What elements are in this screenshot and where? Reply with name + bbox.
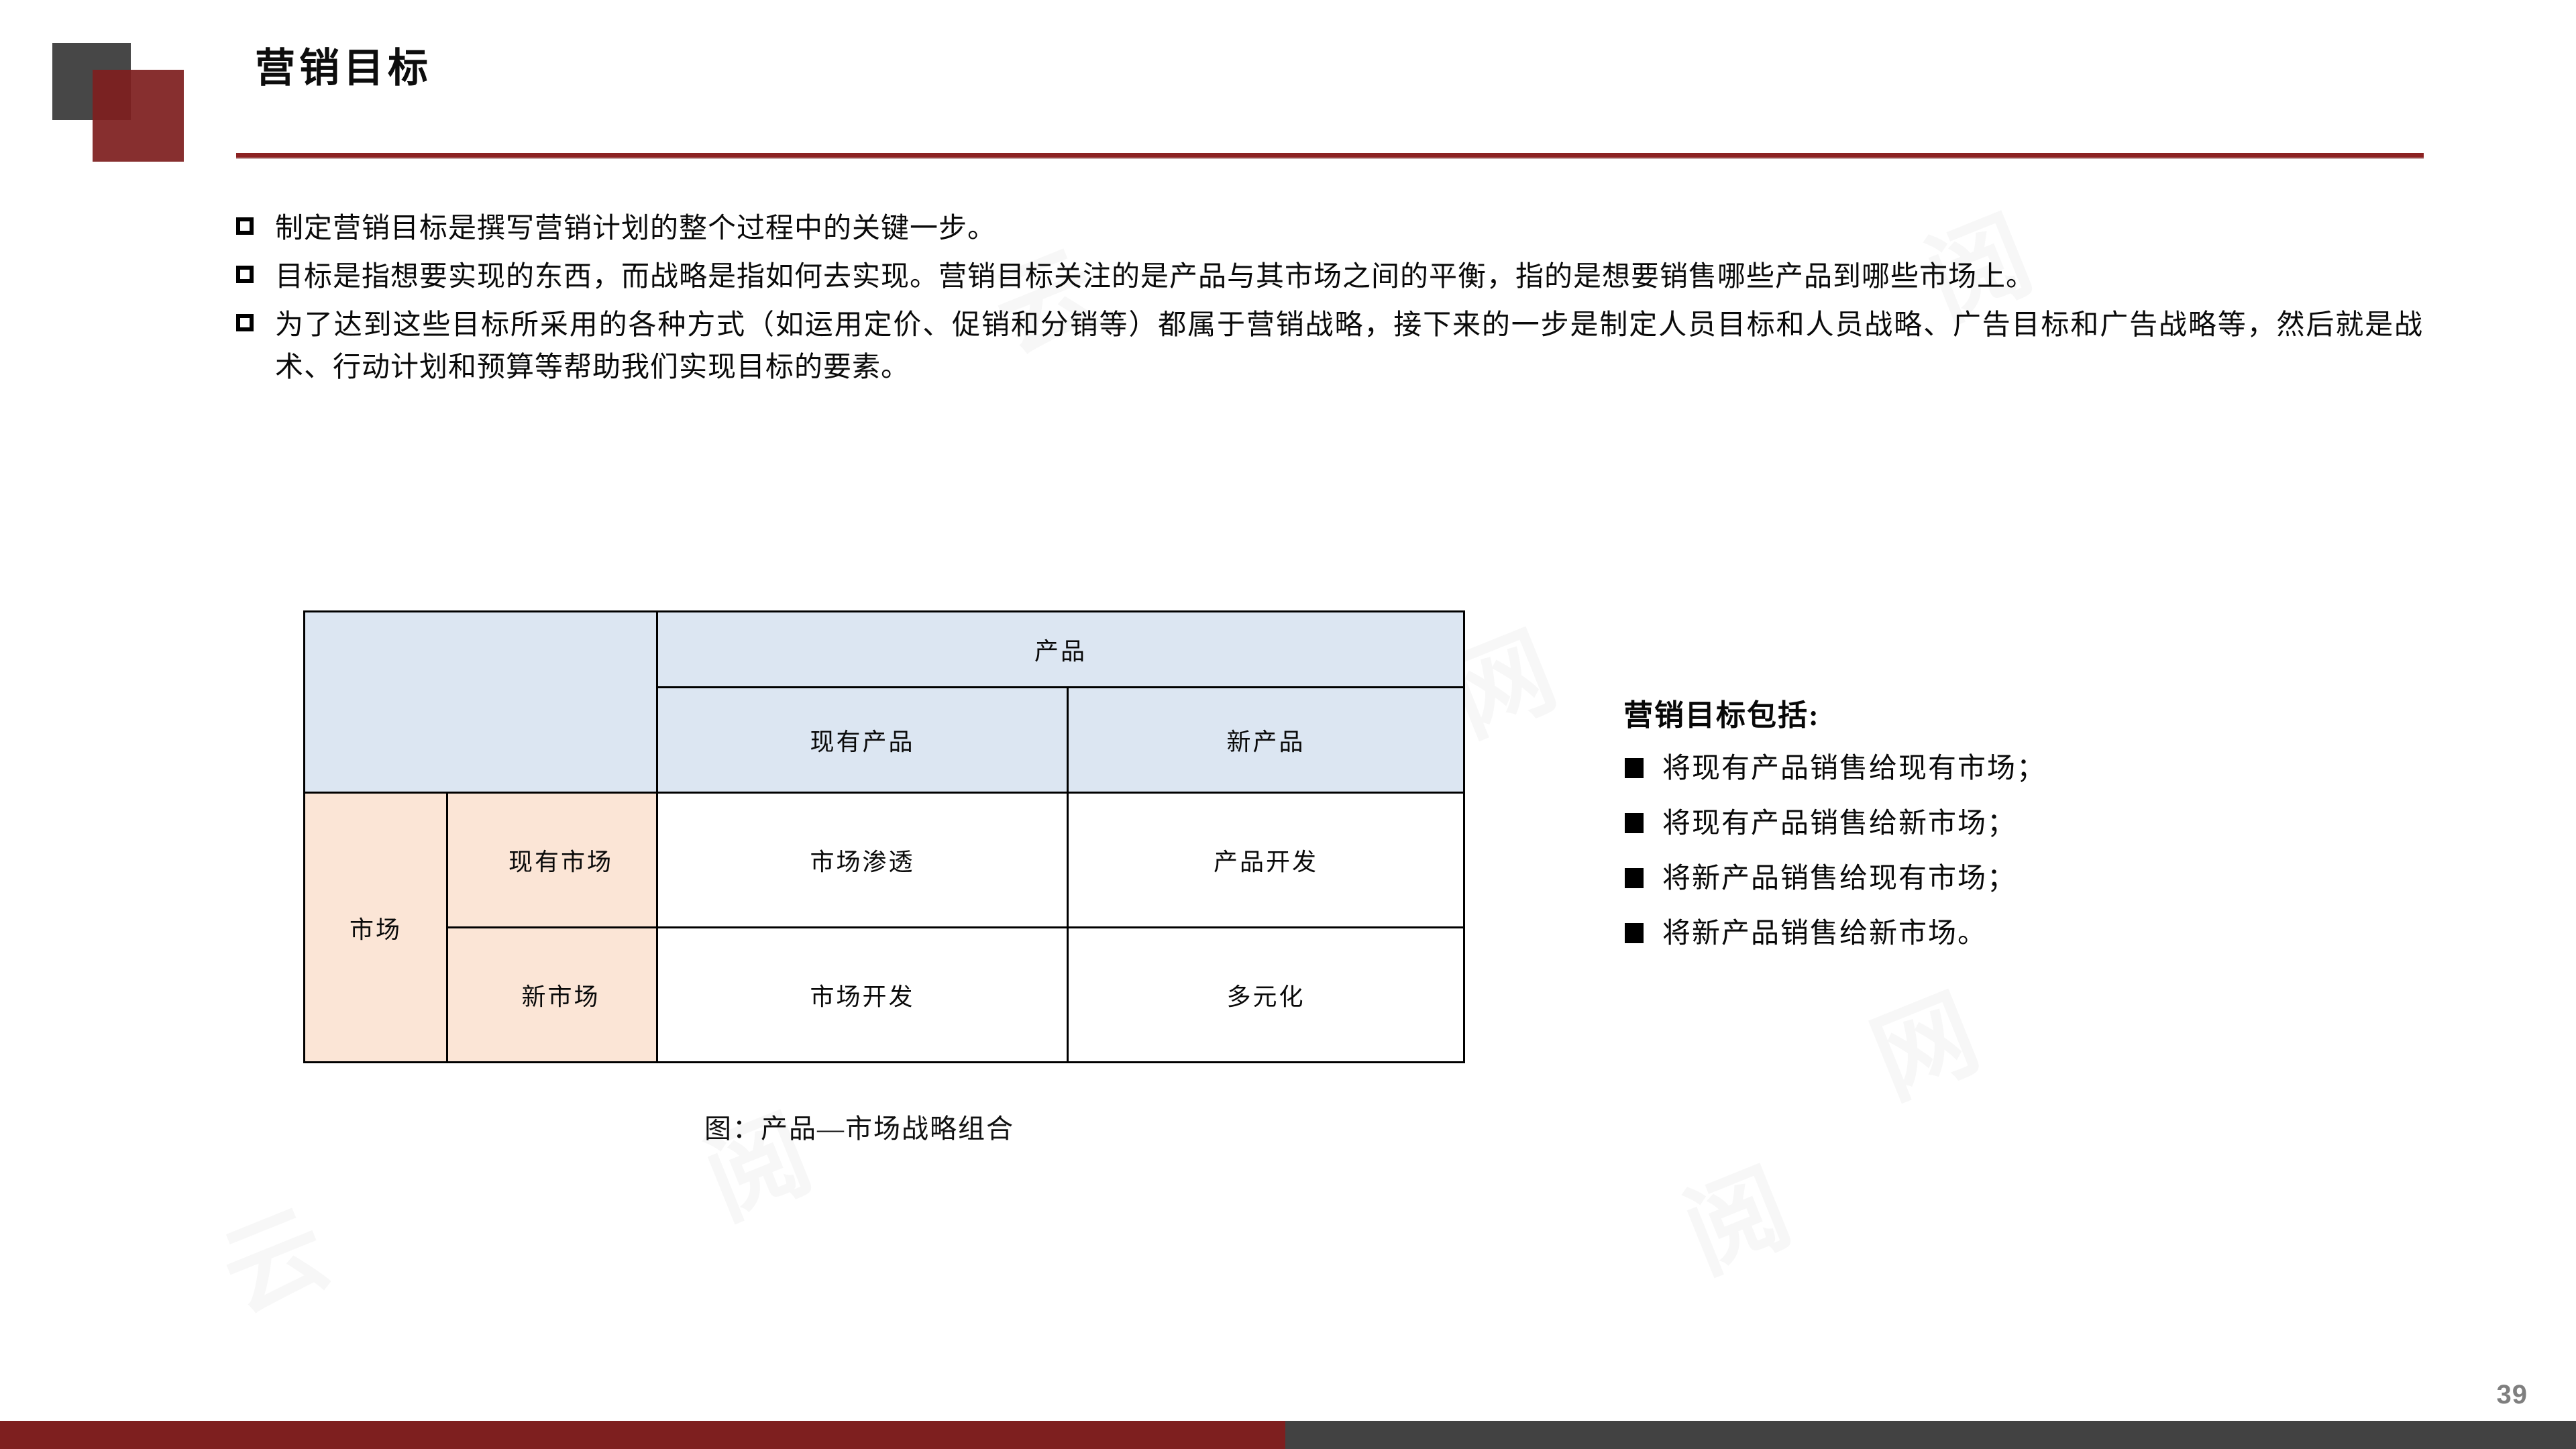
- goal-list-item: 将新产品销售给新市场。: [1623, 916, 2428, 954]
- body-bullet-list: 制定营销目标是撰写营销计划的整个过程中的关键一步。 目标是指想要实现的东西，而战…: [236, 208, 2423, 395]
- body-list-item-text: 目标是指想要实现的东西，而战略是指如何去实现。营销目标关注的是产品与其市场之间的…: [275, 256, 2423, 299]
- matrix-cell-diversification: 多元化: [1068, 928, 1464, 1063]
- marketing-goals-panel: 营销目标包括: 将现有产品销售给现有市场； 将现有产品销售给新市场； 将新产品销…: [1623, 691, 2428, 971]
- footer-bar-gray-segment: [1285, 1421, 2576, 1449]
- matrix-corner-cell: [305, 612, 657, 793]
- footer-bar: [0, 1421, 2576, 1449]
- product-market-matrix-table: 产品 现有产品 新产品 市场 现有市场 市场渗透 产品开发 新市场 市场开发 多…: [303, 610, 1465, 1063]
- page-number: 39: [2497, 1380, 2528, 1410]
- goal-list-item: 将现有产品销售给现有市场；: [1623, 751, 2428, 789]
- matrix-column-header-new-product: 新产品: [1068, 688, 1464, 793]
- matrix-cell-market-penetration: 市场渗透: [657, 793, 1068, 928]
- watermark-glyph: 阅: [1660, 1127, 1808, 1299]
- watermark-glyph: 云: [198, 1167, 345, 1340]
- filled-square-bullet-icon: [1625, 813, 1644, 833]
- goal-list-item: 将新产品销售给现有市场；: [1623, 861, 2428, 899]
- goal-list-item-text: 将新产品销售给新市场。: [1662, 916, 2428, 952]
- figure-caption: 图：产品—市场战略组合: [704, 1107, 1014, 1146]
- hollow-square-bullet-icon: [236, 266, 254, 283]
- title-underline-rule: [236, 153, 2424, 159]
- table-row-new-market: 新市场 市场开发 多元化: [305, 928, 1464, 1063]
- matrix-row-group-header-market: 市场: [305, 793, 447, 1063]
- watermark-glyph: 网: [1848, 953, 1996, 1125]
- footer-bar-red-segment: [0, 1421, 1285, 1449]
- body-list-item: 制定营销目标是撰写营销计划的整个过程中的关键一步。: [236, 208, 2423, 251]
- page-title: 营销目标: [255, 48, 432, 89]
- table-row-existing-market: 市场 现有市场 市场渗透 产品开发: [305, 793, 1464, 928]
- matrix-row-header-existing-market: 现有市场: [447, 793, 657, 928]
- filled-square-bullet-icon: [1625, 923, 1644, 943]
- filled-square-bullet-icon: [1625, 868, 1644, 888]
- watermark-glyph: 阅: [681, 1073, 828, 1246]
- goal-list-item: 将现有产品销售给新市场；: [1623, 806, 2428, 844]
- goal-list-item-text: 将新产品销售给现有市场；: [1662, 861, 2428, 897]
- matrix-cell-product-development: 产品开发: [1068, 793, 1464, 928]
- header-decoration-red-square: [93, 70, 184, 162]
- matrix-column-header-existing-product: 现有产品: [657, 688, 1068, 793]
- hollow-square-bullet-icon: [236, 217, 254, 235]
- body-list-item: 目标是指想要实现的东西，而战略是指如何去实现。营销目标关注的是产品与其市场之间的…: [236, 256, 2423, 299]
- hollow-square-bullet-icon: [236, 314, 254, 331]
- table-row-column-group-header: 产品: [305, 612, 1464, 688]
- matrix-row-header-new-market: 新市场: [447, 928, 657, 1063]
- body-list-item-text: 为了达到这些目标所采用的各种方式（如运用定价、促销和分销等）都属于营销战略，接下…: [275, 305, 2423, 390]
- matrix-column-group-header: 产品: [657, 612, 1464, 688]
- goal-list-item-text: 将现有产品销售给新市场；: [1662, 806, 2428, 842]
- marketing-goals-panel-title: 营销目标包括:: [1623, 691, 2428, 734]
- matrix-cell-market-development: 市场开发: [657, 928, 1068, 1063]
- body-list-item: 为了达到这些目标所采用的各种方式（如运用定价、促销和分销等）都属于营销战略，接下…: [236, 305, 2423, 390]
- goal-list-item-text: 将现有产品销售给现有市场；: [1662, 751, 2428, 787]
- filled-square-bullet-icon: [1625, 758, 1644, 778]
- body-list-item-text: 制定营销目标是撰写营销计划的整个过程中的关键一步。: [275, 208, 2423, 251]
